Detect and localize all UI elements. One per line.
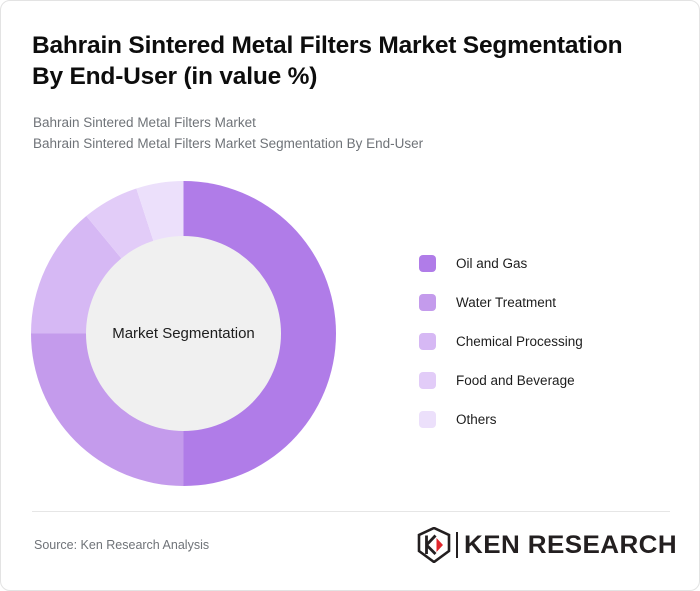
legend-item-label: Chemical Processing bbox=[456, 334, 583, 349]
legend-swatch-icon bbox=[419, 255, 436, 272]
footer-divider bbox=[32, 511, 670, 512]
chart-subtitle: Bahrain Sintered Metal Filters Market Ba… bbox=[33, 113, 633, 155]
legend-item-label: Food and Beverage bbox=[456, 373, 575, 388]
legend-item[interactable]: Water Treatment bbox=[419, 283, 669, 322]
legend-item[interactable]: Others bbox=[419, 400, 669, 439]
legend-swatch-icon bbox=[419, 333, 436, 350]
legend-swatch-icon bbox=[419, 294, 436, 311]
chart-legend: Oil and GasWater TreatmentChemical Proce… bbox=[419, 244, 669, 439]
legend-item[interactable]: Chemical Processing bbox=[419, 322, 669, 361]
ken-research-logo-icon bbox=[417, 527, 451, 563]
legend-swatch-icon bbox=[419, 411, 436, 428]
legend-item-label: Water Treatment bbox=[456, 295, 556, 310]
legend-item-label: Others bbox=[456, 412, 497, 427]
brand-name: KEN RESEARCH bbox=[464, 531, 677, 560]
donut-hole: Market Segmentation bbox=[86, 236, 281, 431]
page-title: Bahrain Sintered Metal Filters Market Se… bbox=[32, 31, 657, 93]
source-note: Source: Ken Research Analysis bbox=[34, 538, 209, 552]
legend-item[interactable]: Food and Beverage bbox=[419, 361, 669, 400]
subtitle-line-2: Bahrain Sintered Metal Filters Market Se… bbox=[33, 134, 633, 155]
brand-logo: KEN RESEARCH bbox=[417, 525, 669, 565]
donut-center-label: Market Segmentation bbox=[112, 325, 255, 342]
legend-item-label: Oil and Gas bbox=[456, 256, 527, 271]
subtitle-line-1: Bahrain Sintered Metal Filters Market bbox=[33, 113, 633, 134]
chart-card: Bahrain Sintered Metal Filters Market Se… bbox=[0, 0, 700, 591]
legend-swatch-icon bbox=[419, 372, 436, 389]
brand-separator bbox=[456, 532, 458, 558]
donut-chart: Market Segmentation bbox=[31, 181, 336, 486]
legend-item[interactable]: Oil and Gas bbox=[419, 244, 669, 283]
